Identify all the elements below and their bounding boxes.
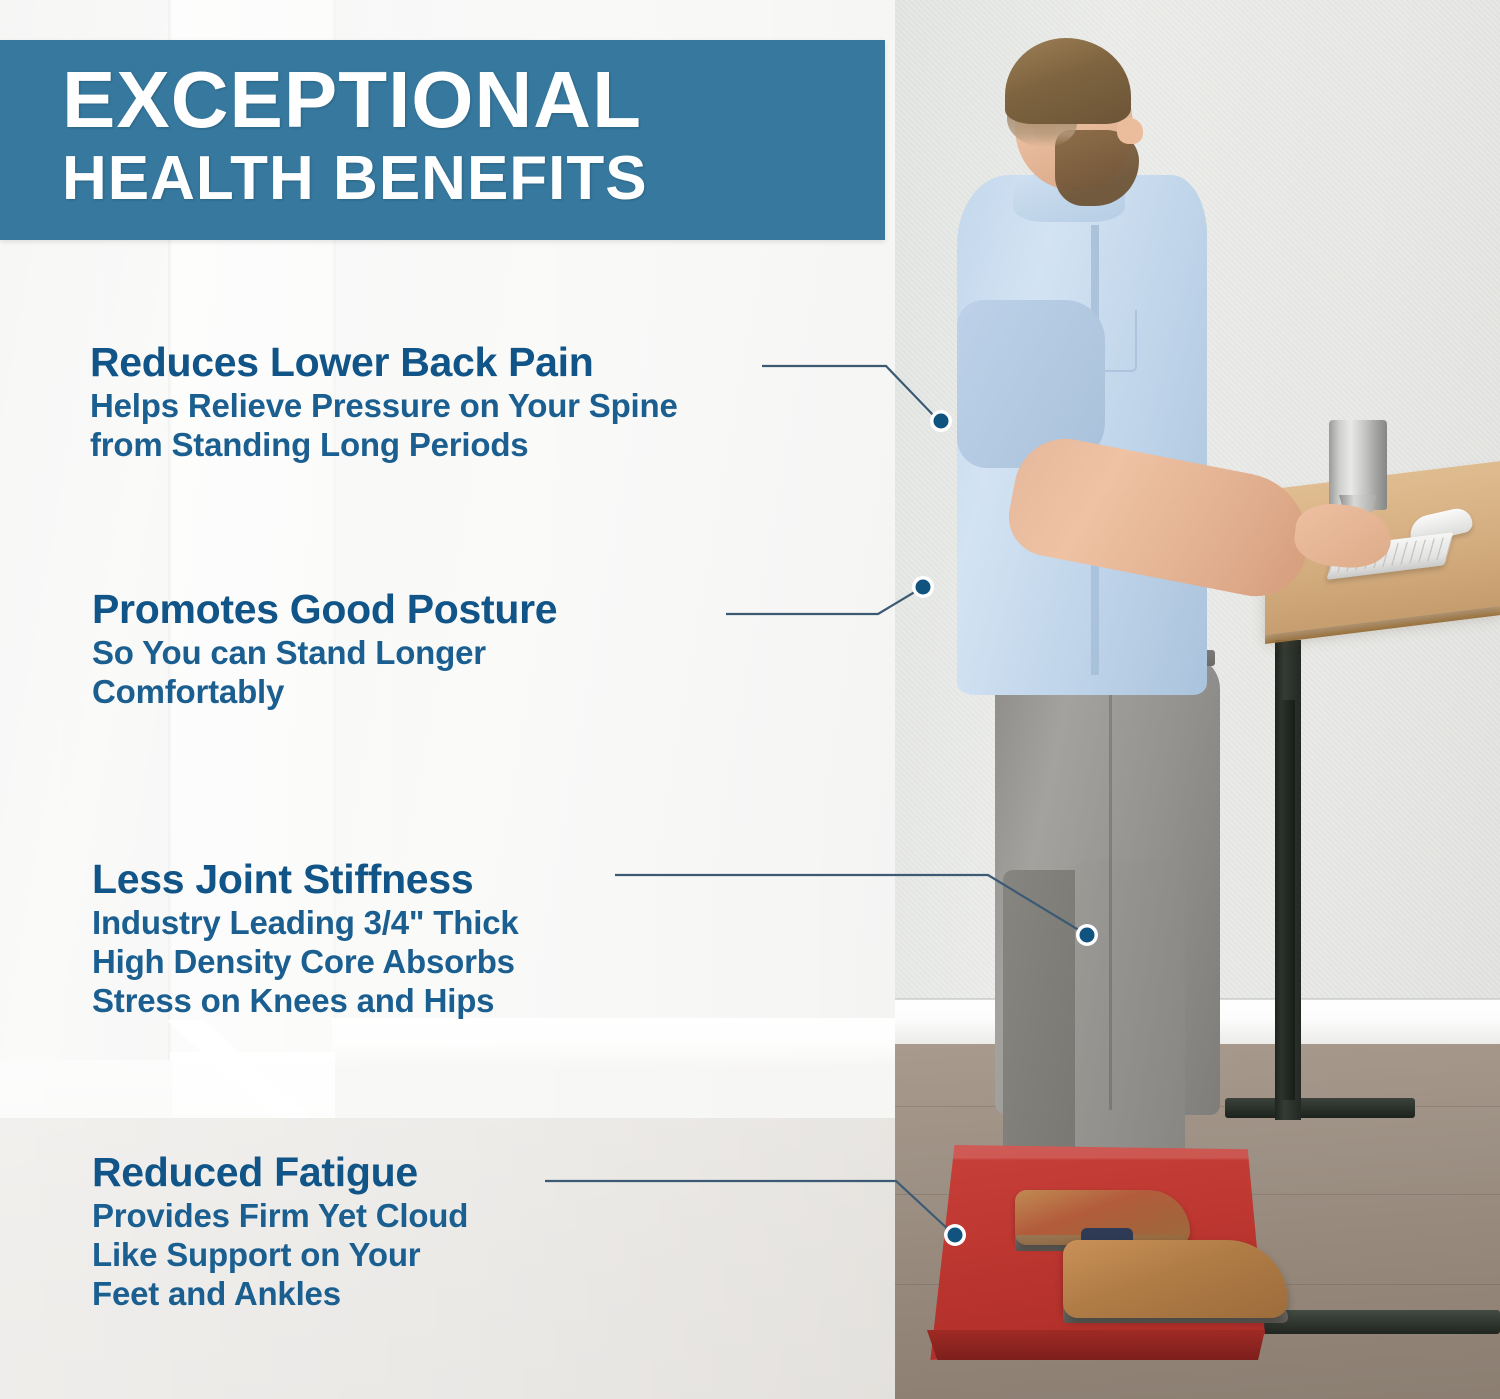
callout-line: So You can Stand Longer bbox=[92, 633, 557, 672]
callout-line: Helps Relieve Pressure on Your Spine bbox=[90, 386, 678, 425]
callout-less-joint-stiffness: Less Joint Stiffness Industry Leading 3/… bbox=[92, 855, 519, 1020]
callout-title: Reduces Lower Back Pain bbox=[90, 338, 678, 386]
banner-title-line-2: HEALTH BENEFITS bbox=[62, 144, 885, 214]
desk-foot-rear bbox=[1225, 1098, 1415, 1118]
header-banner: EXCEPTIONAL HEALTH BENEFITS bbox=[0, 40, 885, 240]
callout-line: Industry Leading 3/4" Thick bbox=[92, 903, 519, 942]
callout-line: Feet and Ankles bbox=[92, 1274, 468, 1313]
callout-promotes-good-posture: Promotes Good Posture So You can Stand L… bbox=[92, 585, 557, 711]
callout-title: Reduced Fatigue bbox=[92, 1148, 468, 1196]
callout-reduced-fatigue: Reduced Fatigue Provides Firm Yet Cloud … bbox=[92, 1148, 468, 1313]
callout-line: High Density Core Absorbs bbox=[92, 942, 519, 981]
callout-line: Like Support on Your bbox=[92, 1235, 468, 1274]
callout-line: Comfortably bbox=[92, 672, 557, 711]
mat-front-edge bbox=[920, 1330, 1265, 1360]
product-photo bbox=[895, 0, 1500, 1399]
callout-title: Less Joint Stiffness bbox=[92, 855, 519, 903]
pants-crease bbox=[1109, 680, 1112, 1110]
callout-title: Promotes Good Posture bbox=[92, 585, 557, 633]
infographic-canvas: EXCEPTIONAL HEALTH BENEFITS Reduces Lowe… bbox=[0, 0, 1500, 1399]
callout-line: from Standing Long Periods bbox=[90, 425, 678, 464]
banner-title-line-1: EXCEPTIONAL bbox=[62, 56, 885, 144]
callout-line: Stress on Knees and Hips bbox=[92, 981, 519, 1020]
desk-leg-inner bbox=[1281, 700, 1295, 1100]
callout-line: Provides Firm Yet Cloud bbox=[92, 1196, 468, 1235]
shoe-front bbox=[1063, 1240, 1288, 1318]
person-nose bbox=[1117, 118, 1143, 144]
callout-reduces-lower-back-pain: Reduces Lower Back Pain Helps Relieve Pr… bbox=[90, 338, 678, 464]
